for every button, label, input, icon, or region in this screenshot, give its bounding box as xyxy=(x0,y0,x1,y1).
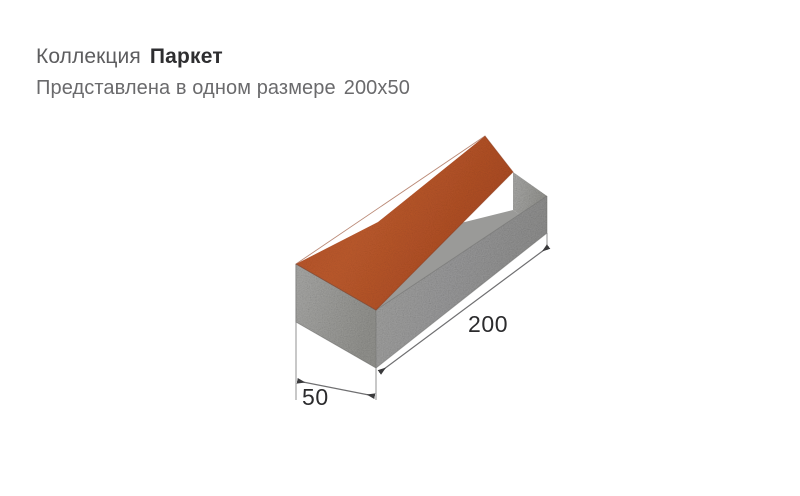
paver-front-face-texture xyxy=(296,264,376,368)
paver-left-end-face xyxy=(296,264,376,368)
collection-heading: КоллекцияПаркет xyxy=(36,44,410,71)
paver-end-face xyxy=(513,172,547,233)
collection-name: Паркет xyxy=(150,45,223,68)
header: КоллекцияПаркет Представлена в одном раз… xyxy=(36,44,410,101)
size-text: 200x50 xyxy=(344,77,410,99)
paver-long-side-face xyxy=(376,196,547,368)
dimension-label-width: 50 xyxy=(302,384,329,411)
paver-solid xyxy=(296,136,547,368)
paver-front-face xyxy=(296,210,547,310)
collection-label: Коллекция xyxy=(36,45,141,68)
availability-line: Представлена в одном размере200x50 xyxy=(36,76,410,102)
paver-edges xyxy=(296,196,547,368)
dimension-extension-lines xyxy=(296,233,547,400)
dimension-label-length: 200 xyxy=(468,311,508,338)
availability-text: Представлена в одном размере xyxy=(36,77,336,99)
diagram-occluders xyxy=(297,265,375,367)
dimension-line-length xyxy=(380,247,548,372)
paver-top-edges xyxy=(296,136,513,310)
paver-top-surface xyxy=(296,136,513,310)
